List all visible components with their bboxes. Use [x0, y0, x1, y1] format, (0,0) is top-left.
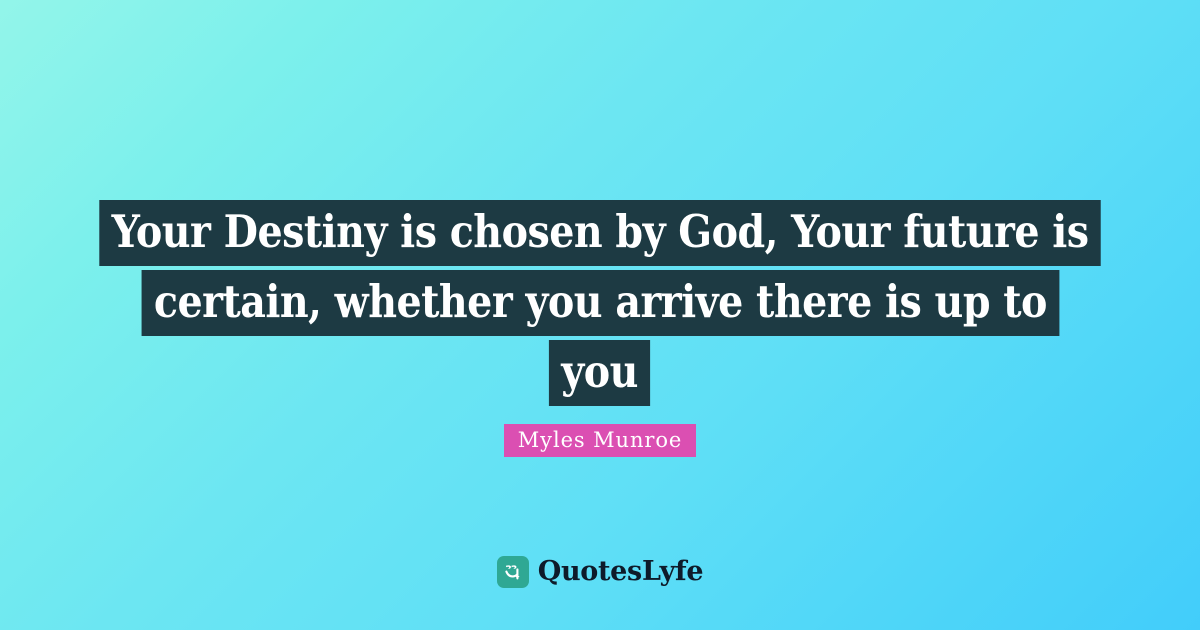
quote-line-1: Your Destiny is chosen by God, Your futu… — [99, 200, 1101, 266]
quote-line-3: you — [549, 340, 650, 406]
quote-smiley-icon — [497, 556, 529, 588]
quote-card: Your Destiny is chosen by God, Your futu… — [0, 0, 1200, 630]
author-attribution: Myles Munroe — [0, 424, 1200, 457]
brand-footer[interactable]: QuotesLyfe — [0, 556, 1200, 588]
author-name: Myles Munroe — [504, 424, 696, 457]
quote-text-block: Your Destiny is chosen by God, Your futu… — [0, 200, 1200, 406]
brand-name: QuotesLyfe — [538, 557, 704, 587]
quote-line-2: certain, whether you arrive there is up … — [141, 270, 1059, 336]
